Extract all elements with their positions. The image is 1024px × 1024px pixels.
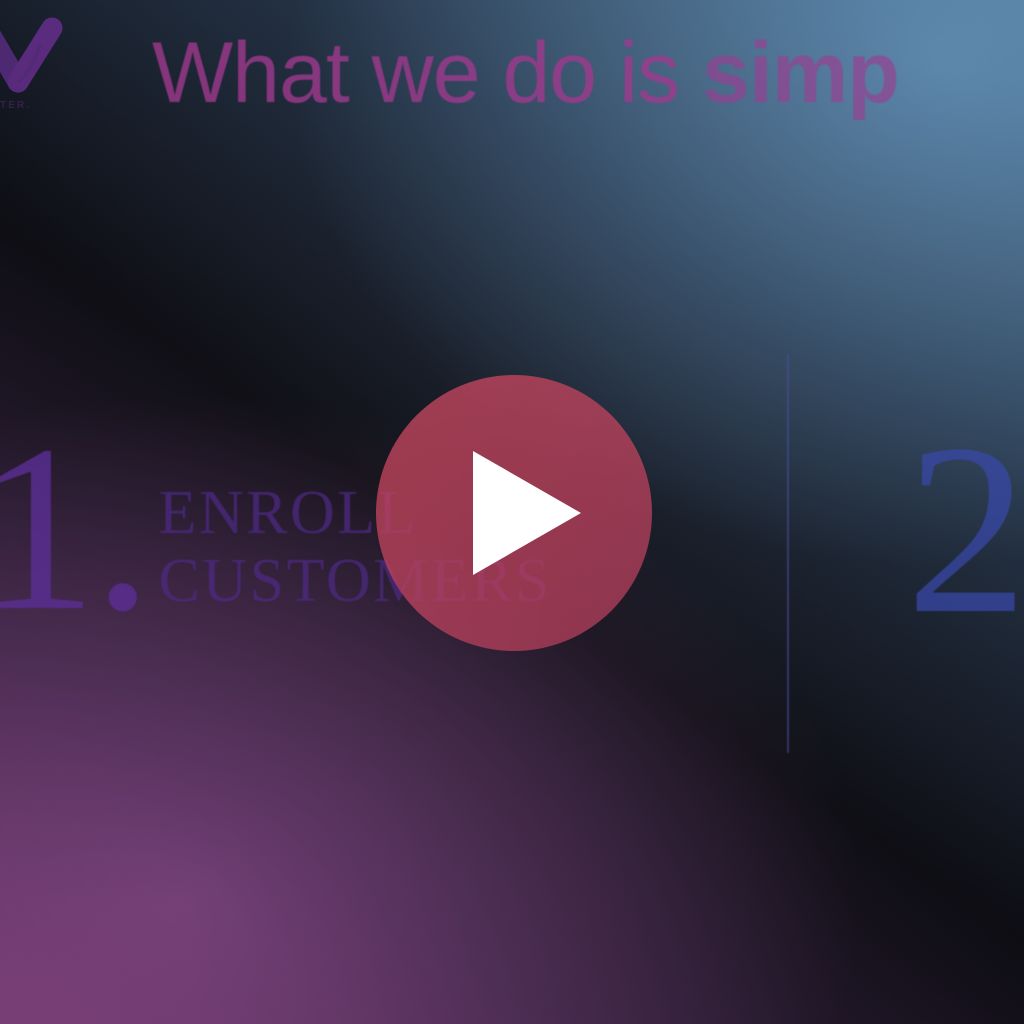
slide-headline: What we do is simp (152, 30, 899, 116)
headline-plain-text: What we do is (152, 25, 702, 121)
play-button[interactable] (376, 375, 652, 651)
brand-logo: TER. (0, 14, 66, 118)
step-divider (787, 355, 789, 753)
v-checkmark-logo-icon (0, 14, 66, 94)
video-poster-frame: TER. What we do is simp 1. ENROLL CUSTOM… (0, 0, 1024, 1024)
play-triangle-icon (473, 451, 581, 575)
step-two-number: 2 (906, 432, 1024, 627)
brand-wordmark: TER. (0, 100, 31, 111)
headline-emphasis-text: simp (702, 25, 899, 121)
step-one-number: 1. (0, 436, 149, 622)
